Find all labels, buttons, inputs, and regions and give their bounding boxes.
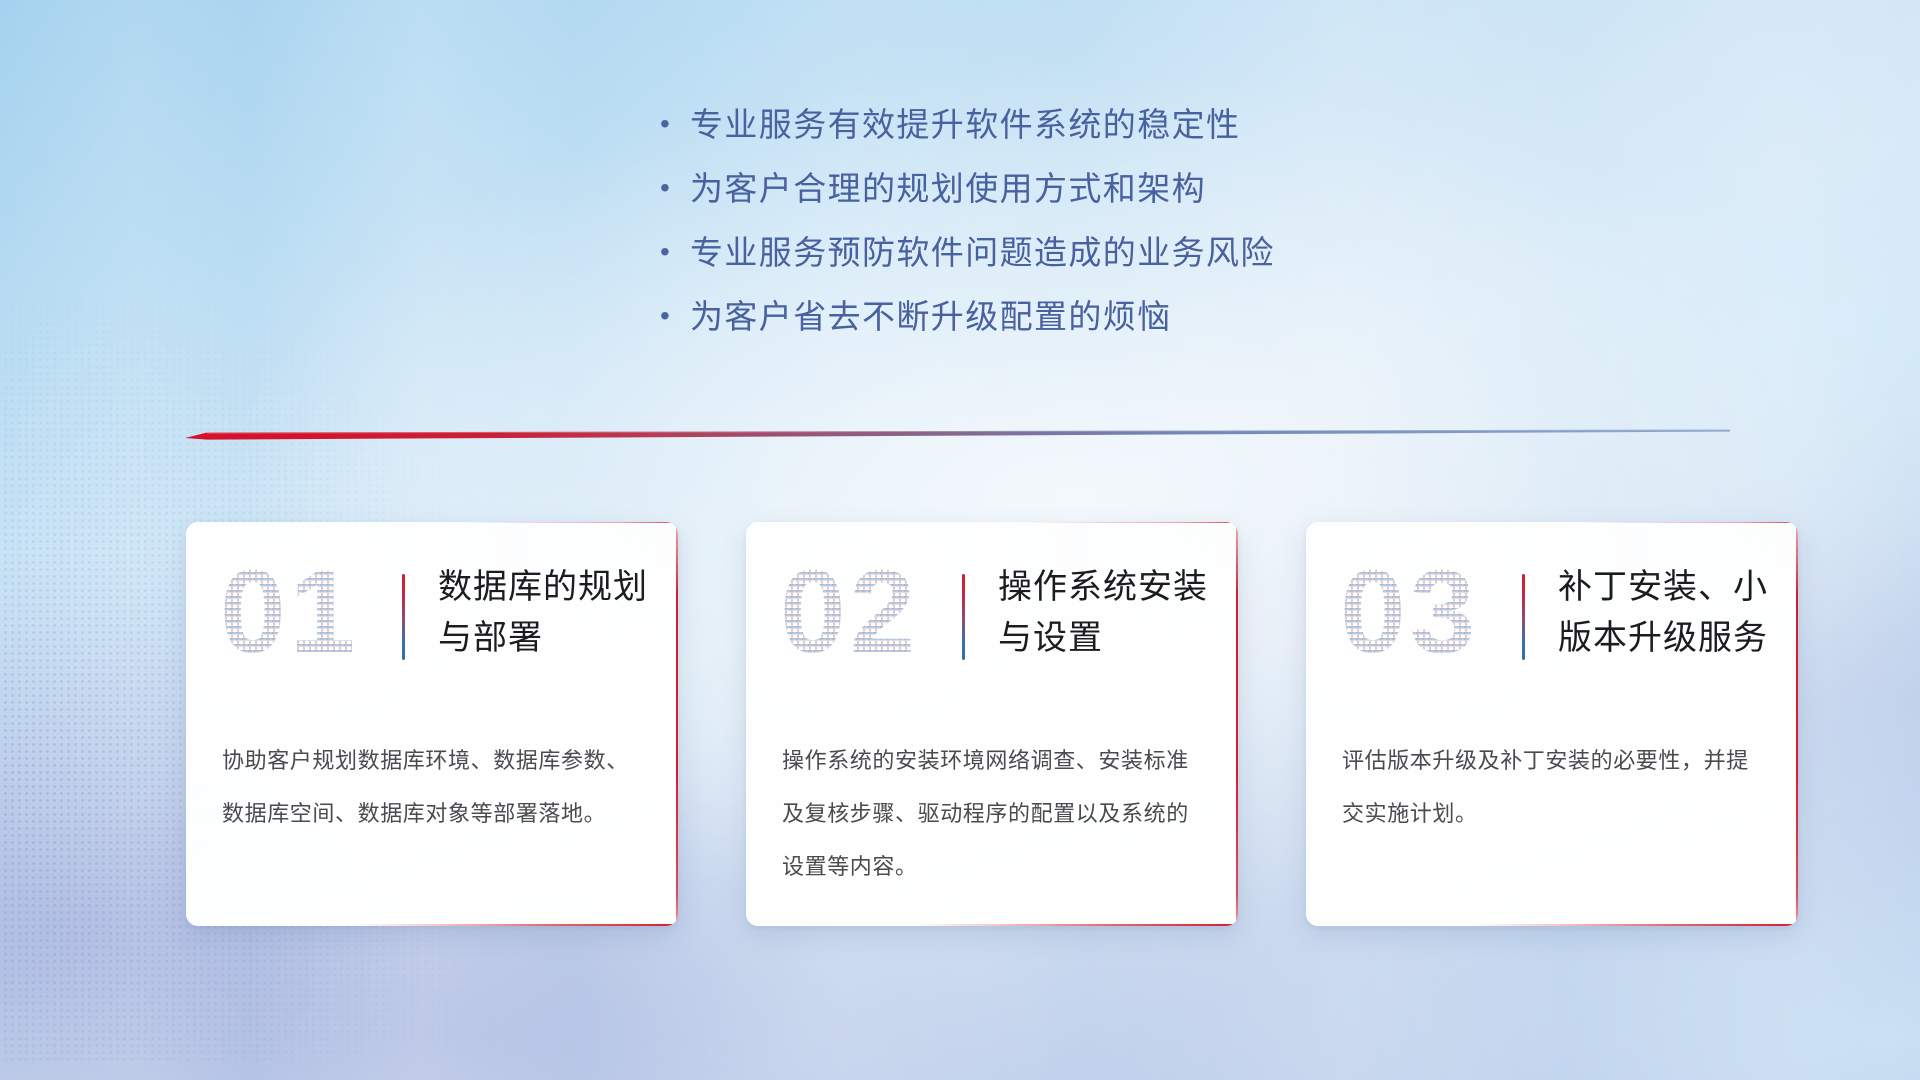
section-divider xyxy=(185,424,1730,446)
service-card[interactable]: 02 操作系统安装与设置 操作系统的安装环境网络调查、安装标准及复核步骤、驱动程… xyxy=(746,522,1238,926)
watermark-number-icon: 02 xyxy=(778,548,928,680)
bullet-text: 专业服务预防软件问题造成的业务风险 xyxy=(690,236,1275,269)
card-accent-bar xyxy=(402,574,405,660)
bullet-text: 为客户合理的规划使用方式和架构 xyxy=(690,172,1206,205)
bullet-text: 为客户省去不断升级配置的烦恼 xyxy=(690,300,1172,333)
bullet-item: • 专业服务有效提升软件系统的稳定性 xyxy=(660,108,1275,172)
card-title: 操作系统安装与设置 xyxy=(998,562,1224,664)
service-card[interactable]: 03 补丁安装、小版本升级服务 评估版本升级及补丁安装的必要性，并提交实施计划。 xyxy=(1306,522,1798,926)
card-header: 02 操作系统安装与设置 xyxy=(746,522,1238,714)
card-title: 补丁安装、小版本升级服务 xyxy=(1558,562,1784,664)
bullet-list: • 专业服务有效提升软件系统的稳定性 • 为客户合理的规划使用方式和架构 • 专… xyxy=(660,108,1275,364)
watermark-number-icon: 01 xyxy=(218,548,368,680)
watermark-number-icon: 03 xyxy=(1338,548,1488,680)
card-description: 评估版本升级及补丁安装的必要性，并提交实施计划。 xyxy=(1342,734,1768,840)
card-description: 操作系统的安装环境网络调查、安装标准及复核步骤、驱动程序的配置以及系统的设置等内… xyxy=(782,734,1208,893)
service-card[interactable]: 01 数据库的规划与部署 协助客户规划数据库环境、数据库参数、数据库空间、数据库… xyxy=(186,522,678,926)
bullet-dot-icon: • xyxy=(660,110,690,138)
bullet-item: • 为客户省去不断升级配置的烦恼 xyxy=(660,300,1275,364)
card-header: 03 补丁安装、小版本升级服务 xyxy=(1306,522,1798,714)
bullet-text: 专业服务有效提升软件系统的稳定性 xyxy=(690,108,1240,141)
bullet-dot-icon: • xyxy=(660,174,690,202)
card-accent-bar xyxy=(962,574,965,660)
bullet-item: • 为客户合理的规划使用方式和架构 xyxy=(660,172,1275,236)
card-title: 数据库的规划与部署 xyxy=(438,562,664,664)
bullet-dot-icon: • xyxy=(660,302,690,330)
bullet-dot-icon: • xyxy=(660,238,690,266)
slide-canvas: • 专业服务有效提升软件系统的稳定性 • 为客户合理的规划使用方式和架构 • 专… xyxy=(0,0,1920,1080)
card-description: 协助客户规划数据库环境、数据库参数、数据库空间、数据库对象等部署落地。 xyxy=(222,734,648,840)
bullet-item: • 专业服务预防软件问题造成的业务风险 xyxy=(660,236,1275,300)
card-accent-bar xyxy=(1522,574,1525,660)
card-header: 01 数据库的规划与部署 xyxy=(186,522,678,714)
service-card-row: 01 数据库的规划与部署 协助客户规划数据库环境、数据库参数、数据库空间、数据库… xyxy=(186,522,1798,926)
